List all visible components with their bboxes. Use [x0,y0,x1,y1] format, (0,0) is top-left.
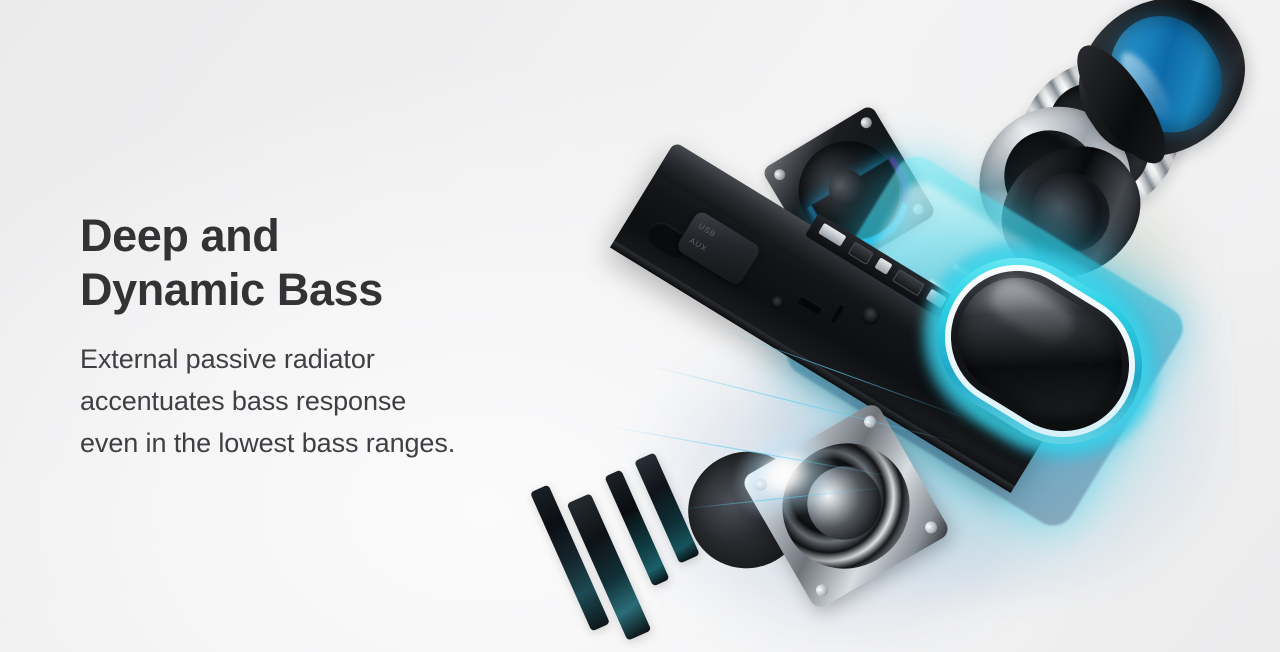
body-line-3: even in the lowest bass ranges. [80,422,620,464]
body-line-1: External passive radiator [80,338,620,380]
page-title: Deep and Dynamic Bass [80,209,620,317]
pcb-chip [874,257,892,275]
body-text: External passive radiator accentuates ba… [80,338,620,464]
product-feature-banner: USB AUX D [0,0,1280,652]
body-line-2: accentuates bass response [80,380,620,422]
headline-line-2: Dynamic Bass [80,263,620,317]
pcb-chip [848,242,874,265]
headline-line-1: Deep and [80,209,620,263]
port-label-usb: USB [697,221,718,239]
port-label-aux: AUX [688,236,709,254]
chassis-port-slot [797,295,824,316]
chassis-port-round [768,293,786,311]
chassis-port-slot [830,302,847,324]
copy-block: Deep and Dynamic Bass External passive r… [80,209,620,464]
